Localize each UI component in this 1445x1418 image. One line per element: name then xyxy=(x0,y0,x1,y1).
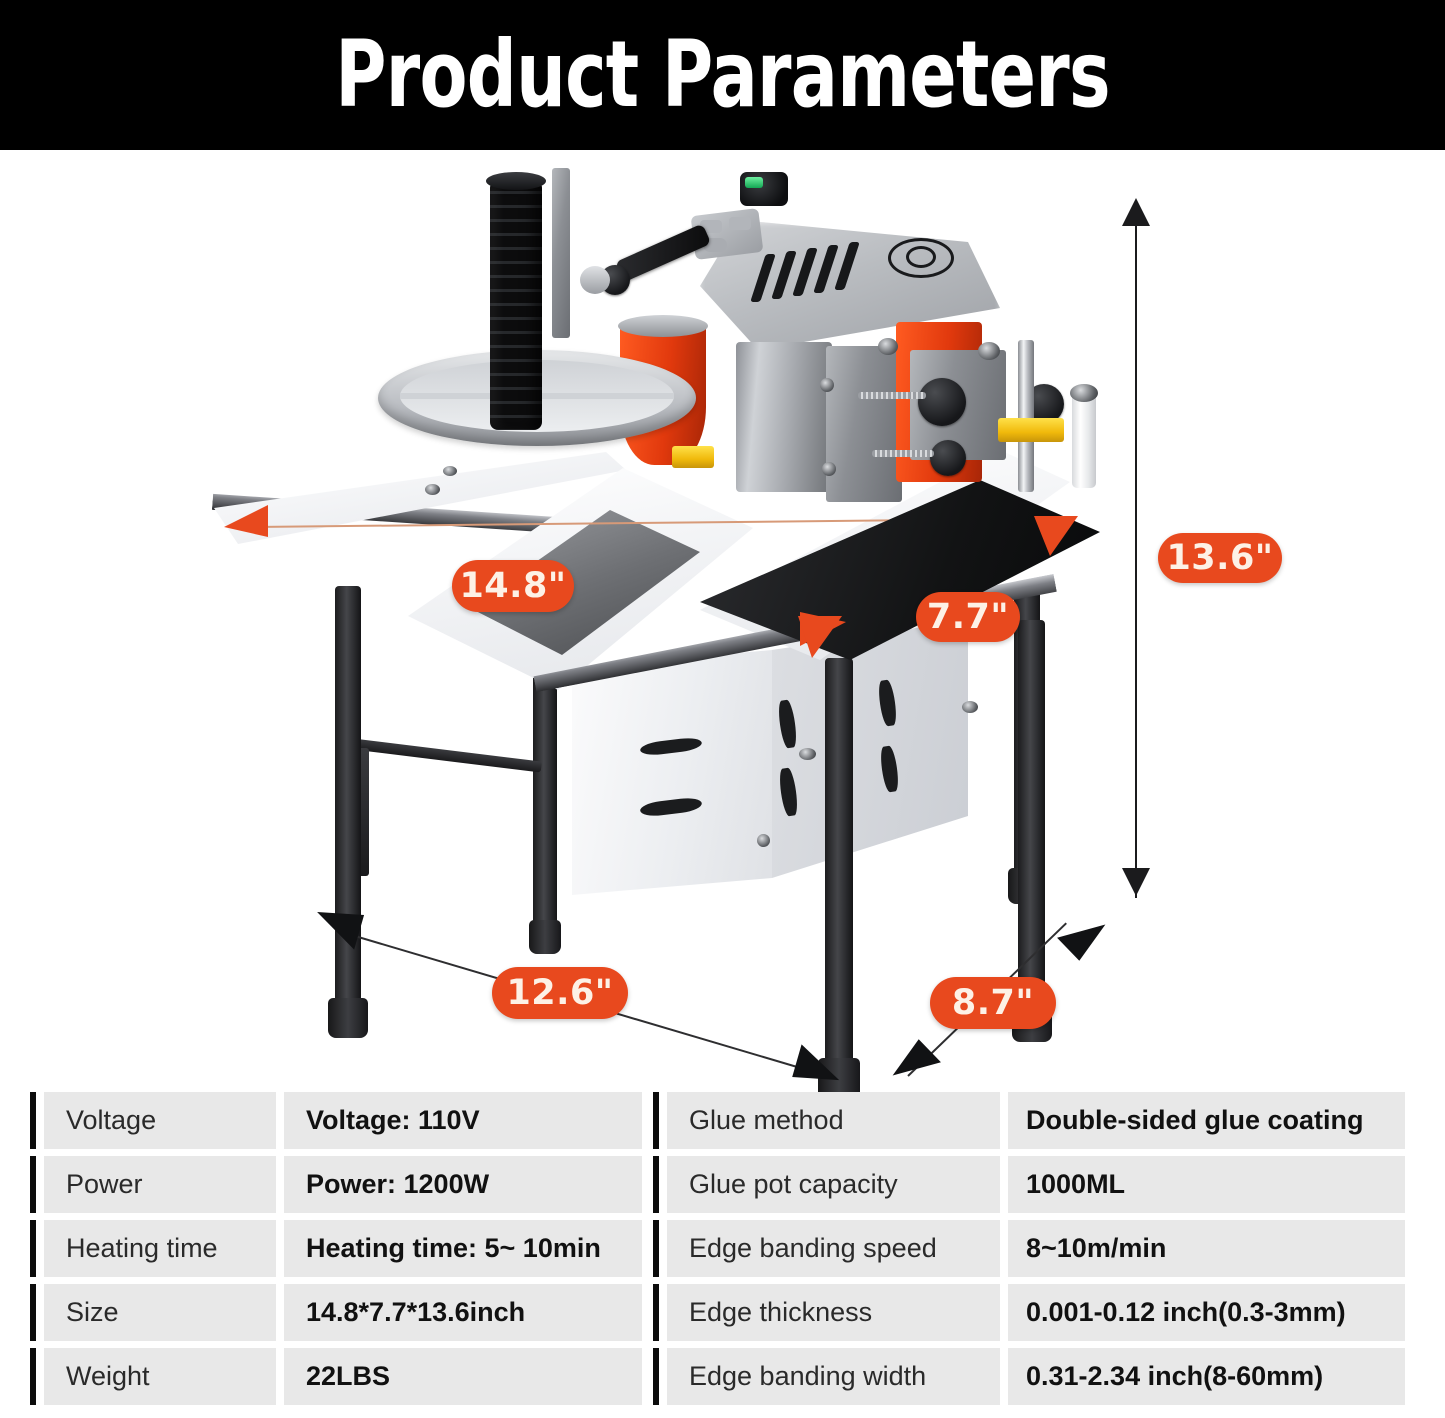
trimmer-screw-bottom xyxy=(822,462,836,476)
depth-adjust-knob[interactable] xyxy=(918,378,966,426)
table-row: Edge banding width 0.31-2.34 inch(8-60mm… xyxy=(653,1348,1405,1405)
glue-pot-rim xyxy=(618,315,708,337)
row-accent-bar xyxy=(30,1284,36,1341)
spec-value: 0.31-2.34 inch(8-60mm) xyxy=(1008,1348,1405,1405)
row-accent-bar xyxy=(30,1156,36,1213)
glue-cabinet-front xyxy=(572,650,772,895)
table-row: Edge banding speed 8~10m/min xyxy=(653,1220,1405,1277)
table-bolt-1 xyxy=(425,484,440,495)
spec-value: 0.001-0.12 inch(0.3-3mm) xyxy=(1008,1284,1405,1341)
guide-post xyxy=(1018,340,1034,492)
spec-value: Double-sided glue coating xyxy=(1008,1092,1405,1149)
table-row: Weight 22LBS xyxy=(30,1348,642,1405)
page-header-banner: Product Parameters xyxy=(0,0,1445,150)
bracket-bolt-b xyxy=(978,342,1000,360)
row-accent-bar xyxy=(30,1092,36,1149)
table-row: Power Power: 1200W xyxy=(30,1156,642,1213)
yellow-guide-block xyxy=(998,418,1064,442)
spec-key: Heating time xyxy=(44,1220,276,1277)
spec-table-left: Voltage Voltage: 110V Power Power: 1200W… xyxy=(30,1092,642,1405)
spec-value: 22LBS xyxy=(284,1348,642,1405)
arrow-height-top xyxy=(1122,198,1150,226)
height-badge: 13.6" xyxy=(1158,533,1282,583)
bench-foot-front-left xyxy=(328,998,368,1038)
power-switch-led xyxy=(745,177,763,188)
table-row: Glue pot capacity 1000ML xyxy=(653,1156,1405,1213)
spec-value: Power: 1200W xyxy=(284,1156,642,1213)
bracket-bolt-a xyxy=(878,338,898,355)
arrow-bench-depth-lower xyxy=(887,1039,941,1093)
spec-key: Power xyxy=(44,1156,276,1213)
yellow-guide-block-2 xyxy=(672,446,714,468)
table-row: Glue method Double-sided glue coating xyxy=(653,1092,1405,1149)
row-accent-bar xyxy=(30,1220,36,1277)
pressure-roller-cap xyxy=(1070,384,1098,402)
height-dimension-line xyxy=(1135,218,1137,898)
trimmer-screw-top xyxy=(820,378,834,392)
spec-value: 8~10m/min xyxy=(1008,1220,1405,1277)
bench-leg-front-center xyxy=(825,658,853,1068)
row-accent-bar xyxy=(653,1092,659,1149)
row-accent-bar xyxy=(30,1348,36,1405)
feed-roller-cap xyxy=(486,172,546,190)
bench-rail-left xyxy=(352,738,542,772)
arrow-bench-depth-upper xyxy=(1057,907,1111,961)
spec-value: 14.8*7.7*13.6inch xyxy=(284,1284,642,1341)
side-knob-lower[interactable] xyxy=(930,440,966,476)
control-pad-button-2[interactable] xyxy=(729,217,751,230)
table-row: Voltage Voltage: 110V xyxy=(30,1092,642,1149)
spec-key: Edge thickness xyxy=(667,1284,1000,1341)
spec-value: 1000ML xyxy=(1008,1156,1405,1213)
page-title: Product Parameters xyxy=(335,29,1110,121)
width-badge: 14.8" xyxy=(452,560,574,612)
spec-value: Voltage: 110V xyxy=(284,1092,642,1149)
lever-collar xyxy=(580,266,610,294)
hood-fan-grille-inner xyxy=(906,246,936,268)
spec-key: Size xyxy=(44,1284,276,1341)
arrow-height-bottom xyxy=(1122,868,1150,896)
spec-table-right: Glue method Double-sided glue coating Gl… xyxy=(653,1092,1405,1405)
arrow-depth-left xyxy=(798,616,842,658)
specification-tables: Voltage Voltage: 110V Power Power: 1200W… xyxy=(0,1092,1445,1418)
cabinet-latch xyxy=(757,834,770,847)
row-accent-bar xyxy=(653,1220,659,1277)
row-accent-bar xyxy=(653,1284,659,1341)
pressure-roller xyxy=(1072,394,1096,488)
spec-key: Edge banding speed xyxy=(667,1220,1000,1277)
arrow-depth-right xyxy=(1034,516,1078,556)
bench-depth-badge: 8.7" xyxy=(930,977,1056,1029)
table-bolt-3 xyxy=(962,701,978,713)
spec-key: Glue method xyxy=(667,1092,1000,1149)
depth-adjust-screw xyxy=(858,392,926,399)
spec-key: Weight xyxy=(44,1348,276,1405)
row-accent-bar xyxy=(653,1348,659,1405)
spec-key: Edge banding width xyxy=(667,1348,1000,1405)
side-screw-lower xyxy=(872,450,934,457)
product-photo: 14.8" 7.7" 13.6" 12.6" 8.7" xyxy=(0,150,1445,1090)
bench-length-badge: 12.6" xyxy=(492,967,628,1019)
table-row: Edge thickness 0.001-0.12 inch(0.3-3mm) xyxy=(653,1284,1405,1341)
feed-roller-handle xyxy=(490,180,542,430)
depth-badge: 7.7" xyxy=(916,592,1020,642)
roller-guide-bar xyxy=(552,168,570,338)
table-row: Size 14.8*7.7*13.6inch xyxy=(30,1284,642,1341)
spec-key: Glue pot capacity xyxy=(667,1156,1000,1213)
power-switch[interactable] xyxy=(740,172,788,206)
spec-key: Voltage xyxy=(44,1092,276,1149)
bench-leg-front-right xyxy=(1018,620,1045,1010)
motor-body xyxy=(736,342,832,492)
spec-value: Heating time: 5~ 10min xyxy=(284,1220,642,1277)
table-bolt-4 xyxy=(443,466,457,476)
table-row: Heating time Heating time: 5~ 10min xyxy=(30,1220,642,1277)
trimmer-housing xyxy=(826,346,902,502)
row-accent-bar xyxy=(653,1156,659,1213)
table-bolt-2 xyxy=(799,748,816,760)
bench-foot-back-left xyxy=(529,920,561,954)
arrow-width-left xyxy=(224,505,268,537)
